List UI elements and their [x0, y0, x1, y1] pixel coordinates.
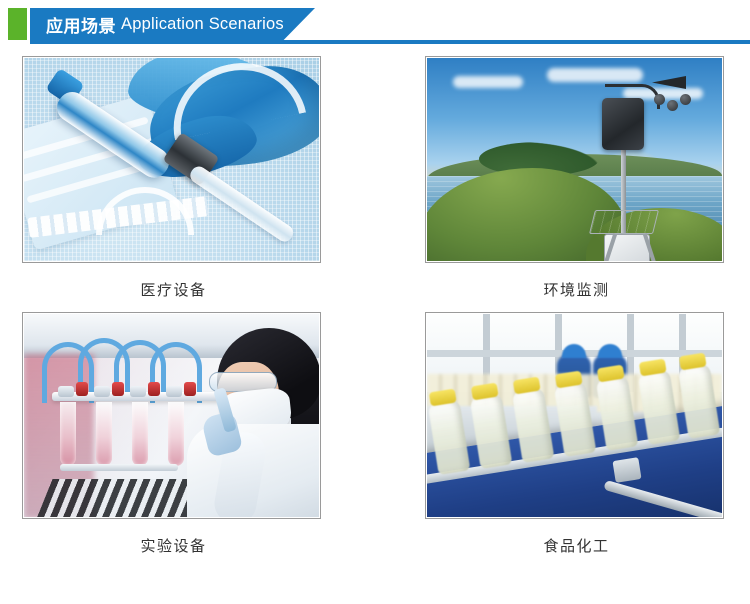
medical-photo-canvas — [24, 58, 319, 261]
medical-equipment-photo[interactable] — [22, 56, 321, 263]
laboratory-equipment-photo[interactable] — [22, 312, 321, 519]
scenario-card-medical[interactable]: 医疗设备 — [22, 56, 325, 300]
environmental-monitoring-photo[interactable] — [425, 56, 724, 263]
section-header: 应用场景 Application Scenarios — [0, 0, 750, 46]
environment-photo-canvas — [427, 58, 722, 261]
scenario-row-top: 医疗设备 — [0, 56, 750, 300]
page-title-cn: 应用场景 — [46, 12, 116, 37]
caption-laboratory: 实验设备 — [22, 535, 325, 556]
food-photo-canvas — [427, 314, 722, 517]
scenario-grid: 医疗设备 — [0, 56, 750, 556]
scenario-card-food-chemical[interactable]: 食品化工 — [425, 312, 728, 556]
page-title-en: Application Scenarios — [121, 15, 284, 34]
food-chemical-photo[interactable] — [425, 312, 724, 519]
scenario-card-environment[interactable]: 环境监测 — [425, 56, 728, 300]
caption-medical: 医疗设备 — [22, 279, 325, 300]
header-underline-rule — [30, 40, 750, 44]
caption-food-chemical: 食品化工 — [425, 535, 728, 556]
header-green-accent-bar — [8, 8, 27, 40]
header-title-group: 应用场景 Application Scenarios — [46, 8, 284, 40]
caption-environment: 环境监测 — [425, 279, 728, 300]
scenario-row-bottom: 实验设备 — [0, 312, 750, 556]
scenario-card-laboratory[interactable]: 实验设备 — [22, 312, 325, 556]
laboratory-photo-canvas — [24, 314, 319, 517]
